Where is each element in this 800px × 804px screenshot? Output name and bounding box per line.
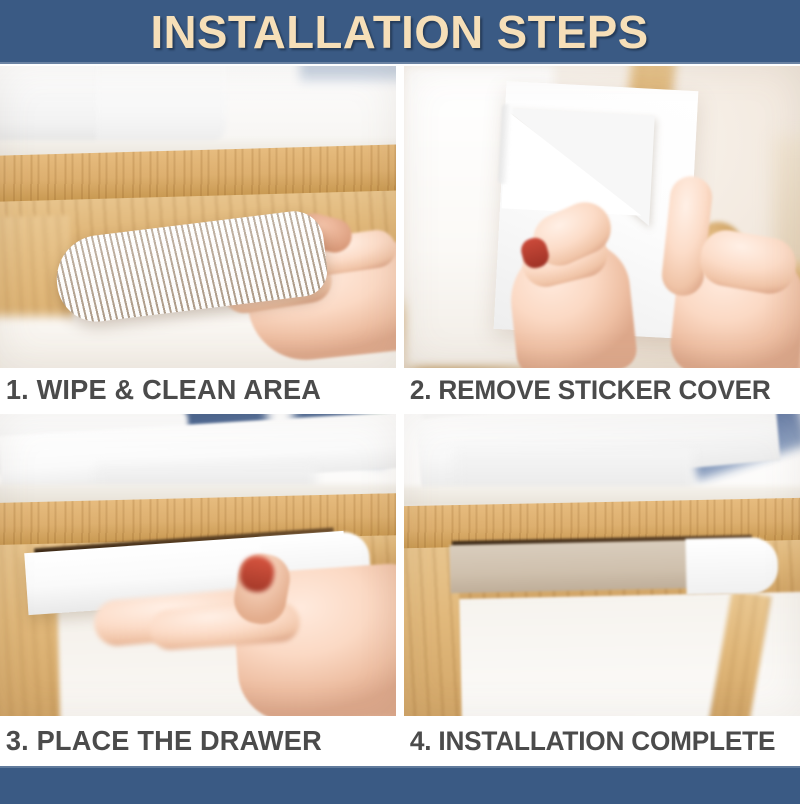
step-caption-1: 1. WIPE & CLEAN AREA <box>0 368 396 412</box>
steps-grid: 1. WIPE & CLEAN AREA 2. REMOVE STICKER C… <box>0 64 800 766</box>
step-caption-2-text: 2. REMOVE STICKER COVER <box>404 375 771 406</box>
step-photo-3 <box>0 414 396 716</box>
step-caption-4-text: 4. INSTALLATION COMPLETE <box>404 726 775 757</box>
scene-wipe-clean-area <box>0 66 396 368</box>
photo-row-bottom <box>0 412 800 716</box>
step-photo-4 <box>404 414 800 716</box>
step-caption-4: 4. INSTALLATION COMPLETE <box>404 716 800 766</box>
page-title: INSTALLATION STEPS <box>151 5 649 59</box>
step-caption-2: 2. REMOVE STICKER COVER <box>404 368 800 412</box>
footer-bar <box>0 766 800 804</box>
caption-row-top: 1. WIPE & CLEAN AREA 2. REMOVE STICKER C… <box>0 368 800 412</box>
installation-steps-infographic: INSTALLATION STEPS <box>0 0 800 803</box>
caption-row-bottom: 3. PLACE THE DRAWER 4. INSTALLATION COMP… <box>0 716 800 766</box>
scene-installation-complete <box>404 414 800 716</box>
step-photo-2 <box>404 66 800 368</box>
scene-place-the-drawer <box>0 414 396 716</box>
step-photo-1 <box>0 66 396 368</box>
step-caption-3: 3. PLACE THE DRAWER <box>0 716 396 766</box>
step-caption-3-text: 3. PLACE THE DRAWER <box>0 725 322 757</box>
steps-row-bottom: 3. PLACE THE DRAWER 4. INSTALLATION COMP… <box>0 412 800 766</box>
steps-row-top: 1. WIPE & CLEAN AREA 2. REMOVE STICKER C… <box>0 64 800 412</box>
header-bar: INSTALLATION STEPS <box>0 0 800 64</box>
step-caption-1-text: 1. WIPE & CLEAN AREA <box>0 374 321 406</box>
scene-remove-sticker-cover <box>404 66 800 368</box>
photo-row-top <box>0 64 800 368</box>
